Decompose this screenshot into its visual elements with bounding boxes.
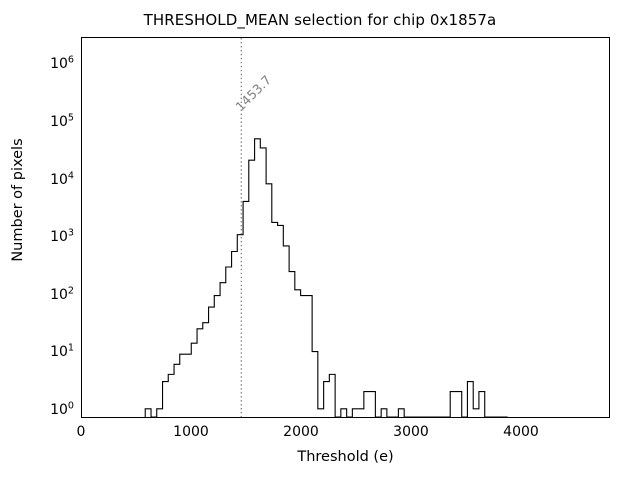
page-title: THRESHOLD_MEAN selection for chip 0x1857… [0,11,640,29]
y-tick-label: 102 [24,287,74,303]
x-tick-label: 1000 [173,424,209,440]
y-tick-label: 105 [24,114,74,130]
y-tick-label: 106 [24,56,74,72]
x-tick-label: 0 [77,424,86,440]
plot-area [81,37,610,418]
x-tick-label: 4000 [503,424,539,440]
y-tick-label: 100 [24,402,74,418]
y-tick-label: 101 [24,344,74,360]
matplotlib-figure: THRESHOLD_MEAN selection for chip 0x1857… [0,0,640,480]
x-tick-label: 3000 [393,424,429,440]
histogram-step-line [145,139,508,417]
axis-ticks [82,38,608,417]
x-tick-label: 2000 [283,424,319,440]
histogram-svg [82,38,609,417]
x-axis-label: Threshold (e) [81,449,610,465]
y-tick-label: 104 [24,172,74,188]
y-tick-label: 103 [24,229,74,245]
